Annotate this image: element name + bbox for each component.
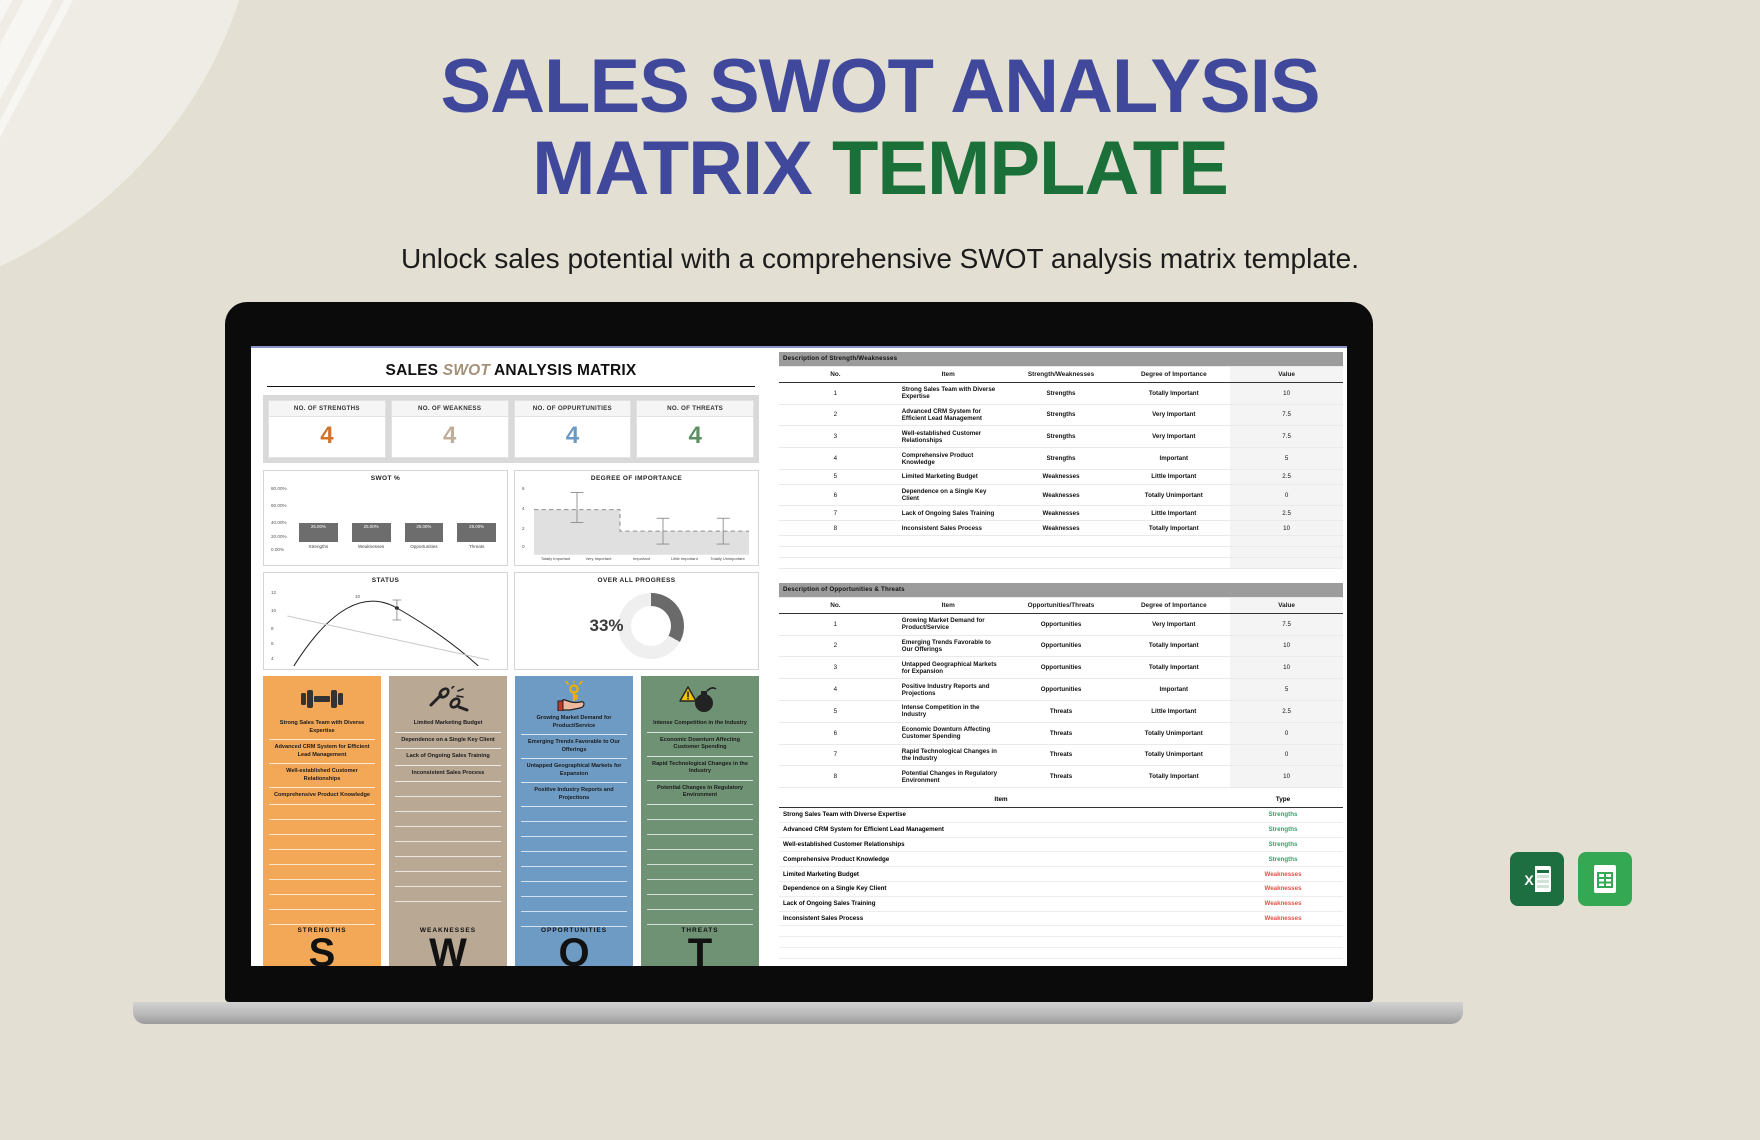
cell-no: 8	[779, 766, 892, 788]
quadrant-letter: T	[641, 936, 759, 966]
sheet-title-divider	[267, 386, 755, 387]
page-title-line2: MATRIX TEMPLATE	[0, 132, 1760, 206]
cell-degree: Totally Important	[1117, 766, 1230, 788]
cell-item: Strong Sales Team with Diverse Expertise	[779, 808, 1223, 823]
page-title-line1: SALES SWOT ANALYSIS	[0, 50, 1760, 124]
quadrant-threats[interactable]: Intense Competition in the Industry Econ…	[641, 676, 759, 966]
cell-degree: Totally Important	[1117, 521, 1230, 536]
cell-type: Threats	[1005, 744, 1118, 766]
bar-category: Strengths	[309, 544, 329, 549]
quadrant-filler	[389, 782, 507, 927]
cell-no: 4	[779, 448, 892, 470]
cell-value: 10	[1230, 635, 1343, 657]
cell-item: Rapid Technological Changes in the Indus…	[892, 744, 1005, 766]
table-opportunities-threats[interactable]: Description of Opportunities & Threats N…	[779, 583, 1343, 788]
y-tick: 4	[271, 656, 274, 661]
cell-item: Limited Marketing Budget	[892, 469, 1005, 484]
cell-value: 0	[1230, 484, 1343, 506]
cell-item: Potential Changes in Regulatory Environm…	[892, 766, 1005, 788]
line-series	[283, 586, 500, 666]
quadrant-letter: S	[263, 936, 381, 966]
kpi-card-threats[interactable]: NO. OF THREATS 4	[636, 400, 754, 458]
bar-value-label: 25.00%	[299, 523, 338, 529]
cell-value: 0	[1230, 722, 1343, 744]
bar-series: 25.00% Strengths 25.00% Weaknesses 25.00…	[299, 488, 496, 549]
chart-degree-of-importance[interactable]: DEGREE OF IMPORTANCE 6 4 2 0	[514, 470, 759, 566]
quadrant-filler	[641, 805, 759, 927]
table-row[interactable]: 5Intense Competition in the IndustryThre…	[779, 700, 1343, 722]
cell-no: 3	[779, 657, 892, 679]
cell-value: 7.5	[1230, 426, 1343, 448]
cell-degree: Little Important	[1117, 469, 1230, 484]
x-tick: Totally Important	[534, 556, 577, 561]
cell-no: 3	[779, 426, 892, 448]
cell-no: 2	[779, 635, 892, 657]
table-empty-row	[779, 926, 1343, 937]
cell-type: Strengths	[1223, 852, 1343, 867]
cell-type: Opportunities	[1005, 679, 1118, 701]
column-header-item: Item	[892, 366, 1005, 382]
spreadsheet-left-pane: SALES SWOT ANALYSIS MATRIX NO. OF STRENG…	[251, 348, 771, 966]
table-row[interactable]: 2Emerging Trends Favorable to Our Offeri…	[779, 635, 1343, 657]
chart-title: SWOT %	[269, 475, 502, 484]
cell-degree: Very Important	[1117, 426, 1230, 448]
quadrant-item: Well-established Customer Relationships	[269, 764, 375, 788]
cell-value: 7.5	[1230, 613, 1343, 635]
bar-category: Threats	[469, 544, 485, 549]
list-item[interactable]: Limited Marketing BudgetWeaknesses	[779, 867, 1343, 882]
sheet-title-prefix: SALES	[386, 362, 443, 379]
table-empty-row	[779, 536, 1343, 547]
list-item[interactable]: Comprehensive Product KnowledgeStrengths	[779, 852, 1343, 867]
bar-group[interactable]: 25.00% Strengths	[299, 488, 338, 549]
cell-no: 4	[779, 679, 892, 701]
y-tick: 8	[271, 626, 274, 631]
table-empty-row	[779, 558, 1343, 569]
quadrant-weaknesses[interactable]: Limited Marketing Budget Dependence on a…	[389, 676, 507, 966]
kpi-value: 4	[515, 417, 631, 457]
quadrant-items: Limited Marketing Budget Dependence on a…	[389, 716, 507, 782]
cell-degree: Totally Unimportant	[1117, 484, 1230, 506]
bar-category: Weaknesses	[358, 544, 384, 549]
excel-icon[interactable]: X	[1510, 852, 1564, 906]
cell-type: Weaknesses	[1223, 867, 1343, 882]
line-peak-label: 10	[355, 594, 360, 599]
x-tick: Very Important	[577, 556, 620, 561]
cell-type: Strengths	[1005, 448, 1118, 470]
chart-title: STATUS	[269, 577, 502, 586]
chart-plot-area: 12 10 8 6 4	[269, 586, 502, 666]
bar-group[interactable]: 25.00% Weaknesses	[352, 488, 391, 549]
y-tick: 4	[522, 506, 525, 511]
kpi-strip: NO. OF STRENGTHS 4 NO. OF WEAKNESS 4 NO.…	[263, 395, 759, 463]
quadrant-item: Strong Sales Team with Diverse Expertise	[269, 716, 375, 740]
cell-item: Comprehensive Product Knowledge	[779, 852, 1223, 867]
chart-plot-area: 6 4 2 0	[520, 484, 753, 562]
chart-swot-percent[interactable]: SWOT % 80.00% 60.00% 40.00% 20.00% 0.00%…	[263, 470, 508, 566]
kpi-label: NO. OF STRENGTHS	[269, 401, 385, 417]
list-item[interactable]: Strong Sales Team with Diverse Expertise…	[779, 808, 1343, 823]
quadrant-item: Limited Marketing Budget	[395, 716, 501, 733]
cell-degree: Totally Important	[1117, 657, 1230, 679]
quadrant-items: Growing Market Demand for Product/Servic…	[515, 711, 633, 807]
cell-no: 1	[779, 382, 892, 404]
cell-degree: Important	[1117, 679, 1230, 701]
table-banner: Description of Strength/Weaknesses	[779, 352, 1343, 366]
table-gap	[779, 569, 1343, 583]
cell-no: 7	[779, 744, 892, 766]
cell-type: Strengths	[1005, 382, 1118, 404]
table-row[interactable]: 1Growing Market Demand for Product/Servi…	[779, 613, 1343, 635]
table-row[interactable]: 7Lack of Ongoing Sales TrainingWeaknesse…	[779, 506, 1343, 521]
page-title-template: TEMPLATE	[832, 126, 1228, 211]
column-header-no: No.	[779, 597, 892, 613]
cell-no: 5	[779, 469, 892, 484]
svg-text:X: X	[1524, 872, 1534, 888]
kpi-label: NO. OF OPPURTUNITIES	[515, 401, 631, 417]
laptop-mockup: SALES SWOT ANALYSIS MATRIX NO. OF STRENG…	[225, 302, 1373, 1024]
cell-type: Opportunities	[1005, 635, 1118, 657]
cell-item: Intense Competition in the Industry	[892, 700, 1005, 722]
cell-type: Threats	[1005, 700, 1118, 722]
cell-degree: Important	[1117, 448, 1230, 470]
cell-type: Strengths	[1223, 822, 1343, 837]
cell-degree: Totally Important	[1117, 635, 1230, 657]
column-header-degree: Degree of Importance	[1117, 366, 1230, 382]
chart-title: DEGREE OF IMPORTANCE	[520, 475, 753, 484]
chart-title: OVER ALL PROGRESS	[520, 577, 753, 586]
quadrant-filler	[515, 807, 633, 927]
column-header-item: Item	[892, 597, 1005, 613]
quadrant-letter: O	[515, 936, 633, 966]
cell-item: Growing Market Demand for Product/Servic…	[892, 613, 1005, 635]
column-header-value: Value	[1230, 597, 1343, 613]
table-row[interactable]: 1Strong Sales Team with Diverse Expertis…	[779, 382, 1343, 404]
quadrant-item: Dependence on a Single Key Client	[395, 733, 501, 750]
chart-row-top: SWOT % 80.00% 60.00% 40.00% 20.00% 0.00%…	[263, 470, 759, 566]
table-empty-row	[779, 937, 1343, 948]
cell-no: 1	[779, 613, 892, 635]
y-tick: 80.00%	[271, 486, 287, 491]
table-row[interactable]: 5Limited Marketing BudgetWeaknessesLittl…	[779, 469, 1343, 484]
dumbbell-icon	[263, 676, 381, 716]
quadrant-item: Rapid Technological Changes in the Indus…	[647, 757, 753, 781]
column-header-degree: Degree of Importance	[1117, 597, 1230, 613]
quadrant-opportunities[interactable]: Growing Market Demand for Product/Servic…	[515, 676, 633, 966]
table-row[interactable]: 8Potential Changes in Regulatory Environ…	[779, 766, 1343, 788]
quadrant-item: Inconsistent Sales Process	[395, 766, 501, 783]
quadrant-item: Positive Industry Reports and Projection…	[521, 783, 627, 807]
kpi-card-strengths[interactable]: NO. OF STRENGTHS 4	[268, 400, 386, 458]
broken-chain-icon	[389, 676, 507, 716]
hand-key-icon	[515, 676, 633, 711]
quadrant-item: Economic Downturn Affecting Customer Spe…	[647, 733, 753, 757]
y-tick: 0	[522, 544, 525, 549]
chart-row-bottom: STATUS 12 10 8 6 4	[263, 572, 759, 670]
y-tick: 0.00%	[271, 547, 284, 552]
cell-type: Weaknesses	[1223, 896, 1343, 911]
progress-donut-wrap: 33%	[520, 586, 753, 666]
kpi-card-opportunities[interactable]: NO. OF OPPURTUNITIES 4	[514, 400, 632, 458]
cell-degree: Little Important	[1117, 700, 1230, 722]
table-row[interactable]: 6Dependence on a Single Key ClientWeakne…	[779, 484, 1343, 506]
quadrant-item: Lack of Ongoing Sales Training	[395, 749, 501, 766]
quadrant-letter: W	[389, 936, 507, 966]
table-empty-row	[779, 959, 1343, 966]
cell-value: 10	[1230, 657, 1343, 679]
progress-value: 33%	[589, 616, 623, 636]
table-empty-row	[779, 547, 1343, 558]
cell-item: Well-established Customer Relationships	[892, 426, 1005, 448]
progress-donut	[618, 593, 684, 659]
cell-value: 10	[1230, 521, 1343, 536]
bar-value-label: 25.00%	[352, 523, 391, 529]
cell-degree: Very Important	[1117, 404, 1230, 426]
column-header-type: Strength/Weaknesses	[1005, 366, 1118, 382]
column-header-item: Item	[779, 792, 1223, 808]
chart-plot-area: 80.00% 60.00% 40.00% 20.00% 0.00% 25.00%…	[269, 484, 502, 562]
cell-type: Opportunities	[1005, 613, 1118, 635]
x-tick: Totally Unimportant	[706, 556, 749, 561]
y-tick: 40.00%	[271, 520, 287, 525]
table-summary[interactable]: Item Type Strong Sales Team with Diverse…	[779, 792, 1343, 966]
file-format-badges: X	[1510, 852, 1632, 906]
cell-item: Emerging Trends Favorable to Our Offerin…	[892, 635, 1005, 657]
table-row[interactable]: 4Comprehensive Product KnowledgeStrength…	[779, 448, 1343, 470]
cell-item: Well-established Customer Relationships	[779, 837, 1223, 852]
cell-value: 5	[1230, 448, 1343, 470]
y-tick: 2	[522, 526, 525, 531]
table-row[interactable]: 3Untapped Geographical Markets for Expan…	[779, 657, 1343, 679]
table-row[interactable]: 8Inconsistent Sales ProcessWeaknessesTot…	[779, 521, 1343, 536]
quadrant-item: Untapped Geographical Markets for Expans…	[521, 759, 627, 783]
quadrant-item: Comprehensive Product Knowledge	[269, 788, 375, 805]
list-item[interactable]: Inconsistent Sales ProcessWeaknesses	[779, 911, 1343, 926]
cell-type: Weaknesses	[1223, 911, 1343, 926]
google-sheets-icon[interactable]	[1578, 852, 1632, 906]
x-tick: Little Important	[663, 556, 706, 561]
cell-no: 6	[779, 484, 892, 506]
spreadsheet-right-pane: Description of Strength/Weaknesses No. I…	[771, 348, 1347, 966]
cell-degree: Totally Unimportant	[1117, 744, 1230, 766]
cell-value: 5	[1230, 679, 1343, 701]
kpi-label: NO. OF THREATS	[637, 401, 753, 417]
page-subtitle: Unlock sales potential with a comprehens…	[0, 243, 1760, 275]
cell-no: 6	[779, 722, 892, 744]
cell-no: 5	[779, 700, 892, 722]
cell-value: 10	[1230, 766, 1343, 788]
table-strength-weaknesses[interactable]: Description of Strength/Weaknesses No. I…	[779, 352, 1343, 569]
kpi-label: NO. OF WEAKNESS	[392, 401, 508, 417]
table-row[interactable]: 6Economic Downturn Affecting Customer Sp…	[779, 722, 1343, 744]
list-item[interactable]: Dependence on a Single Key ClientWeaknes…	[779, 881, 1343, 896]
table-row[interactable]: 4Positive Industry Reports and Projectio…	[779, 679, 1343, 701]
y-tick: 6	[522, 486, 525, 491]
cell-type: Strengths	[1005, 404, 1118, 426]
cell-type: Threats	[1005, 766, 1118, 788]
bar-value-label: 25.00%	[457, 523, 496, 529]
cell-degree: Very Important	[1117, 613, 1230, 635]
cell-type: Strengths	[1223, 837, 1343, 852]
cell-type: Weaknesses	[1005, 469, 1118, 484]
quadrant-filler	[263, 805, 381, 927]
kpi-value: 4	[637, 417, 753, 457]
kpi-value: 4	[392, 417, 508, 457]
bar-value-label: 25.00%	[405, 523, 444, 529]
cell-item: Strong Sales Team with Diverse Expertise	[892, 382, 1005, 404]
swot-quadrant-row: Strong Sales Team with Diverse Expertise…	[263, 676, 759, 966]
cell-no: 2	[779, 404, 892, 426]
table-row[interactable]: 7Rapid Technological Changes in the Indu…	[779, 744, 1343, 766]
page-header: SALES SWOT ANALYSIS MATRIX TEMPLATE Unlo…	[0, 0, 1760, 275]
cell-degree: Totally Important	[1117, 382, 1230, 404]
column-header-type: Type	[1223, 792, 1343, 808]
cell-item: Advanced CRM System for Efficient Lead M…	[779, 822, 1223, 837]
quadrant-item: Growing Market Demand for Product/Servic…	[521, 711, 627, 735]
bomb-warning-icon	[641, 676, 759, 716]
cell-item: Lack of Ongoing Sales Training	[892, 506, 1005, 521]
cell-item: Untapped Geographical Markets for Expans…	[892, 657, 1005, 679]
laptop-base	[133, 1002, 1463, 1024]
kpi-value: 4	[269, 417, 385, 457]
quadrant-item: Emerging Trends Favorable to Our Offerin…	[521, 735, 627, 759]
cell-item: Limited Marketing Budget	[779, 867, 1223, 882]
y-tick: 20.00%	[271, 534, 287, 539]
y-tick: 60.00%	[271, 503, 287, 508]
cell-type: Weaknesses	[1005, 506, 1118, 521]
cell-value: 10	[1230, 382, 1343, 404]
cell-type: Strengths	[1005, 426, 1118, 448]
list-item[interactable]: Well-established Customer RelationshipsS…	[779, 837, 1343, 852]
y-tick: 10	[271, 608, 276, 613]
cell-degree: Little Important	[1117, 506, 1230, 521]
cell-value: 2.5	[1230, 469, 1343, 484]
cell-type: Strengths	[1223, 808, 1343, 823]
area-series	[534, 486, 749, 555]
table-banner: Description of Opportunities & Threats	[779, 583, 1343, 597]
quadrant-item: Potential Changes in Regulatory Environm…	[647, 781, 753, 805]
cell-value: 2.5	[1230, 700, 1343, 722]
sheet-title-swot: SWOT	[443, 362, 490, 379]
page-title-matrix: MATRIX	[532, 126, 832, 211]
quadrant-items: Strong Sales Team with Diverse Expertise…	[263, 716, 381, 805]
spreadsheet[interactable]: SALES SWOT ANALYSIS MATRIX NO. OF STRENG…	[251, 346, 1347, 966]
cell-item: Inconsistent Sales Process	[892, 521, 1005, 536]
cell-type: Opportunities	[1005, 657, 1118, 679]
cell-type: Threats	[1005, 722, 1118, 744]
x-tick: Important	[620, 556, 663, 561]
quadrant-item: Intense Competition in the Industry	[647, 716, 753, 733]
cell-type: Weaknesses	[1005, 484, 1118, 506]
cell-item: Lack of Ongoing Sales Training	[779, 896, 1223, 911]
cell-item: Advanced CRM System for Efficient Lead M…	[892, 404, 1005, 426]
cell-type: Weaknesses	[1223, 881, 1343, 896]
bar-group[interactable]: 25.00% Threats	[457, 488, 496, 549]
column-header-no: No.	[779, 366, 892, 382]
cell-degree: Totally Unimportant	[1117, 722, 1230, 744]
bar-group[interactable]: 25.00% Opportunities	[405, 488, 444, 549]
sheet-title: SALES SWOT ANALYSIS MATRIX	[259, 354, 763, 386]
table-row[interactable]: 2Advanced CRM System for Efficient Lead …	[779, 404, 1343, 426]
cell-item: Comprehensive Product Knowledge	[892, 448, 1005, 470]
column-header-type: Opportunities/Threats	[1005, 597, 1118, 613]
cell-item: Dependence on a Single Key Client	[779, 881, 1223, 896]
chart-overall-progress[interactable]: OVER ALL PROGRESS 33%	[514, 572, 759, 670]
chart-status[interactable]: STATUS 12 10 8 6 4	[263, 572, 508, 670]
column-header-value: Value	[1230, 366, 1343, 382]
x-tick-labels: Totally Important Very Important Importa…	[534, 556, 749, 561]
quadrant-item: Advanced CRM System for Efficient Lead M…	[269, 740, 375, 764]
list-item[interactable]: Lack of Ongoing Sales TrainingWeaknesses	[779, 896, 1343, 911]
cell-value: 0	[1230, 744, 1343, 766]
table-row[interactable]: 3Well-established Customer Relationships…	[779, 426, 1343, 448]
y-tick: 6	[271, 641, 274, 646]
list-item[interactable]: Advanced CRM System for Efficient Lead M…	[779, 822, 1343, 837]
laptop-screen: SALES SWOT ANALYSIS MATRIX NO. OF STRENG…	[225, 302, 1373, 1002]
cell-type: Weaknesses	[1005, 521, 1118, 536]
table-empty-row	[779, 948, 1343, 959]
quadrant-strengths[interactable]: Strong Sales Team with Diverse Expertise…	[263, 676, 381, 966]
sheet-title-suffix: ANALYSIS MATRIX	[490, 362, 636, 379]
cell-no: 7	[779, 506, 892, 521]
cell-item: Positive Industry Reports and Projection…	[892, 679, 1005, 701]
y-tick: 12	[271, 590, 276, 595]
cell-value: 7.5	[1230, 404, 1343, 426]
kpi-card-weaknesses[interactable]: NO. OF WEAKNESS 4	[391, 400, 509, 458]
cell-item: Dependence on a Single Key Client	[892, 484, 1005, 506]
bar-category: Opportunities	[410, 544, 437, 549]
cell-item: Inconsistent Sales Process	[779, 911, 1223, 926]
cell-no: 8	[779, 521, 892, 536]
quadrant-items: Intense Competition in the Industry Econ…	[641, 716, 759, 805]
cell-value: 2.5	[1230, 506, 1343, 521]
cell-item: Economic Downturn Affecting Customer Spe…	[892, 722, 1005, 744]
